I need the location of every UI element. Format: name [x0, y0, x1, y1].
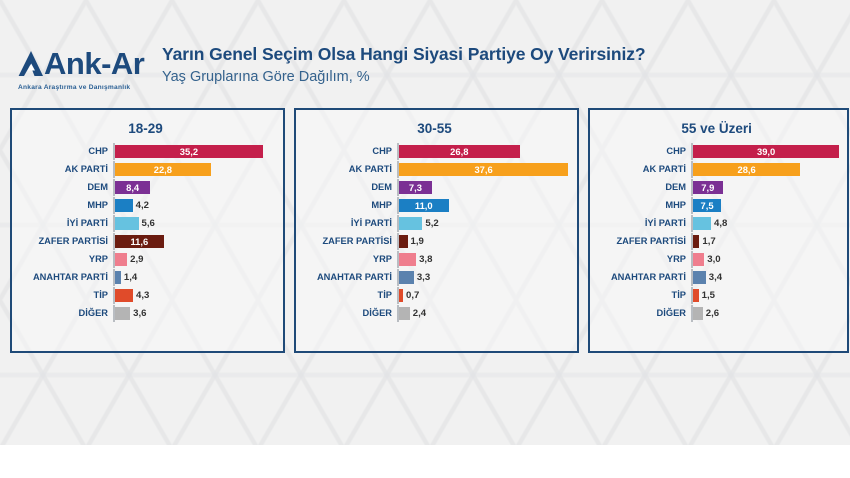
- bar-track: 4,2: [113, 197, 275, 214]
- bar-row: CHP39,0: [594, 143, 839, 160]
- logo-mark: Ank-Ar: [18, 48, 148, 79]
- bar-row-label: YRP: [594, 255, 691, 264]
- chart-panel-18-29: 18-29 CHP35,2AK PARTİ22,8DEM8,4MHP4,2İYİ…: [10, 108, 285, 353]
- title-block: Yarın Genel Seçim Olsa Hangi Siyasi Part…: [148, 30, 645, 85]
- bar-track: 37,6: [397, 161, 569, 178]
- chart-panels: 18-29 CHP35,2AK PARTİ22,8DEM8,4MHP4,2İYİ…: [0, 108, 850, 353]
- bar-row-label: İYİ PARTİ: [300, 219, 397, 228]
- bar-value-label: 37,6: [474, 165, 492, 174]
- bar: 7,9: [693, 181, 723, 194]
- bar-row: CHP35,2: [16, 143, 275, 160]
- bar-track: 26,8: [397, 143, 569, 160]
- bar-value-label: 35,2: [180, 147, 198, 156]
- bar: 37,6: [399, 163, 568, 176]
- chart-panel-30-55: 30-55 CHP26,8AK PARTİ37,6DEM7,3MHP11,0İY…: [294, 108, 579, 353]
- bar-track: 2,4: [397, 305, 569, 322]
- bar-row-label: MHP: [300, 201, 397, 210]
- bar: [693, 307, 703, 320]
- bar: 28,6: [693, 163, 800, 176]
- bar-row-label: AK PARTİ: [594, 165, 691, 174]
- bar-track: 2,9: [113, 251, 275, 268]
- bar: [115, 199, 133, 212]
- bar-track: 3,4: [691, 269, 839, 286]
- bar-row-label: TİP: [300, 291, 397, 300]
- bar-row: ZAFER PARTİSİ1,9: [300, 233, 569, 250]
- logo-wordmark: Ank-Ar: [44, 48, 144, 79]
- bar-track: 22,8: [113, 161, 275, 178]
- panel-title: 18-29: [16, 121, 275, 136]
- bar-track: 35,2: [113, 143, 275, 160]
- bar-track: 7,5: [691, 197, 839, 214]
- bar-value-label: 7,3: [409, 183, 422, 192]
- bar-value-label: 1,9: [411, 237, 424, 247]
- bar: [399, 253, 416, 266]
- bar: [399, 307, 410, 320]
- bar-value-label: 3,0: [707, 255, 720, 265]
- bar: [693, 217, 711, 230]
- bar-value-label: 5,2: [425, 219, 438, 229]
- bar-row-label: ZAFER PARTİSİ: [300, 237, 397, 246]
- bar-track: 8,4: [113, 179, 275, 196]
- bar-track: 1,9: [397, 233, 569, 250]
- bar-value-label: 2,4: [413, 309, 426, 319]
- bar-value-label: 0,7: [406, 291, 419, 301]
- bar-row: DİĞER2,6: [594, 305, 839, 322]
- bar-track: 28,6: [691, 161, 839, 178]
- bar-row-label: ANAHTAR PARTİ: [594, 273, 691, 282]
- bar-row: ANAHTAR PARTİ3,4: [594, 269, 839, 286]
- bar-row-label: DEM: [300, 183, 397, 192]
- bar-track: 3,3: [397, 269, 569, 286]
- logo-tagline: Ankara Araştırma ve Danışmanlık: [18, 84, 148, 91]
- bar-value-label: 22,8: [154, 165, 172, 174]
- bar-track: 11,6: [113, 233, 275, 250]
- bar-row-label: MHP: [594, 201, 691, 210]
- bar: [399, 235, 408, 248]
- bar-row: AK PARTİ22,8: [16, 161, 275, 178]
- bar-value-label: 3,3: [417, 273, 430, 283]
- bar-row: ZAFER PARTİSİ11,6: [16, 233, 275, 250]
- bar-row: TİP1,5: [594, 287, 839, 304]
- bar-row-label: DİĞER: [594, 309, 691, 318]
- bar-row: YRP2,9: [16, 251, 275, 268]
- bar: 11,6: [115, 235, 164, 248]
- bar: 11,0: [399, 199, 449, 212]
- bar-track: 4,8: [691, 215, 839, 232]
- bar-value-label: 4,8: [714, 219, 727, 229]
- bar-row-label: DEM: [594, 183, 691, 192]
- bar-row: TİP4,3: [16, 287, 275, 304]
- bar-row-label: YRP: [300, 255, 397, 264]
- bar: [399, 289, 403, 302]
- bar: [693, 271, 706, 284]
- bar-value-label: 8,4: [126, 183, 139, 192]
- ank-ar-triangle-icon: [18, 50, 44, 78]
- bar-row: ZAFER PARTİSİ1,7: [594, 233, 839, 250]
- bar-row-label: AK PARTİ: [300, 165, 397, 174]
- bar-row-label: ANAHTAR PARTİ: [300, 273, 397, 282]
- bar: [115, 289, 133, 302]
- bar-value-label: 26,8: [450, 147, 468, 156]
- bar-track: 1,5: [691, 287, 839, 304]
- bar: 7,3: [399, 181, 432, 194]
- bar-value-label: 2,6: [706, 309, 719, 319]
- bar-row: TİP0,7: [300, 287, 569, 304]
- bar: 26,8: [399, 145, 520, 158]
- bar-row-label: TİP: [594, 291, 691, 300]
- page-title: Yarın Genel Seçim Olsa Hangi Siyasi Part…: [162, 44, 645, 65]
- bar-row: DEM7,3: [300, 179, 569, 196]
- bar-value-label: 4,2: [136, 201, 149, 211]
- bar-track: 39,0: [691, 143, 839, 160]
- bar-row: DİĞER2,4: [300, 305, 569, 322]
- bar-row-label: ANAHTAR PARTİ: [16, 273, 113, 282]
- bar-row: DEM8,4: [16, 179, 275, 196]
- bar-value-label: 11,6: [130, 237, 148, 246]
- bar-row: YRP3,8: [300, 251, 569, 268]
- bar-row: İYİ PARTİ4,8: [594, 215, 839, 232]
- bar-row-label: ZAFER PARTİSİ: [16, 237, 113, 246]
- bar-row-label: CHP: [16, 147, 113, 156]
- bar-value-label: 28,6: [738, 165, 756, 174]
- bar-value-label: 2,9: [130, 255, 143, 265]
- bar: 22,8: [115, 163, 211, 176]
- poster-canvas: Ank-Ar Ankara Araştırma ve Danışmanlık Y…: [0, 0, 850, 445]
- bar-rows: CHP39,0AK PARTİ28,6DEM7,9MHP7,5İYİ PARTİ…: [594, 143, 839, 322]
- bar-track: 5,6: [113, 215, 275, 232]
- bar-row: DİĞER3,6: [16, 305, 275, 322]
- bar-value-label: 1,5: [702, 291, 715, 301]
- bar: [115, 253, 127, 266]
- bar: [115, 271, 121, 284]
- bar-track: 1,4: [113, 269, 275, 286]
- bar-value-label: 3,6: [133, 309, 146, 319]
- bar-track: 0,7: [397, 287, 569, 304]
- bar-row-label: İYİ PARTİ: [16, 219, 113, 228]
- bar-rows: CHP35,2AK PARTİ22,8DEM8,4MHP4,2İYİ PARTİ…: [16, 143, 275, 322]
- bar-row: ANAHTAR PARTİ3,3: [300, 269, 569, 286]
- bar-value-label: 3,8: [419, 255, 432, 265]
- bar-value-label: 1,7: [702, 237, 715, 247]
- brand-logo: Ank-Ar Ankara Araştırma ve Danışmanlık: [18, 30, 148, 91]
- bar-track: 7,3: [397, 179, 569, 196]
- bar-row-label: AK PARTİ: [16, 165, 113, 174]
- bar-row-label: MHP: [16, 201, 113, 210]
- bar-track: 3,0: [691, 251, 839, 268]
- bar-row: İYİ PARTİ5,6: [16, 215, 275, 232]
- bar-row-label: TİP: [16, 291, 113, 300]
- bar-row: İYİ PARTİ5,2: [300, 215, 569, 232]
- bar-track: 7,9: [691, 179, 839, 196]
- bar-row: YRP3,0: [594, 251, 839, 268]
- bar: [115, 217, 139, 230]
- bar: [399, 217, 422, 230]
- bar-value-label: 39,0: [757, 147, 775, 156]
- bar: 35,2: [115, 145, 263, 158]
- bar-row: MHP7,5: [594, 197, 839, 214]
- bar-value-label: 1,4: [124, 273, 137, 283]
- bar-track: 11,0: [397, 197, 569, 214]
- bar-value-label: 3,4: [709, 273, 722, 283]
- bar-row: MHP11,0: [300, 197, 569, 214]
- bar: [693, 289, 699, 302]
- bar-value-label: 5,6: [142, 219, 155, 229]
- bar-track: 1,7: [691, 233, 839, 250]
- panel-title: 30-55: [300, 121, 569, 136]
- bar-row-label: DİĞER: [16, 309, 113, 318]
- bar-track: 5,2: [397, 215, 569, 232]
- bar-value-label: 7,5: [701, 201, 714, 210]
- bar-row: AK PARTİ28,6: [594, 161, 839, 178]
- bar: 39,0: [693, 145, 839, 158]
- page-subtitle: Yaş Gruplarına Göre Dağılım, %: [162, 69, 645, 85]
- bar-row-label: İYİ PARTİ: [594, 219, 691, 228]
- bar-rows: CHP26,8AK PARTİ37,6DEM7,3MHP11,0İYİ PART…: [300, 143, 569, 322]
- panel-title: 55 ve Üzeri: [594, 121, 839, 136]
- bar: [399, 271, 414, 284]
- bar-row-label: DEM: [16, 183, 113, 192]
- bar-value-label: 7,9: [701, 183, 714, 192]
- bar: [693, 253, 704, 266]
- bar-row-label: DİĞER: [300, 309, 397, 318]
- bar-track: 4,3: [113, 287, 275, 304]
- bar-row-label: ZAFER PARTİSİ: [594, 237, 691, 246]
- bar: [693, 235, 699, 248]
- bar: 8,4: [115, 181, 150, 194]
- bar-row-label: CHP: [300, 147, 397, 156]
- bar-row: AK PARTİ37,6: [300, 161, 569, 178]
- bar-row: CHP26,8: [300, 143, 569, 160]
- bar-value-label: 4,3: [136, 291, 149, 301]
- bar-row: ANAHTAR PARTİ1,4: [16, 269, 275, 286]
- poster-header: Ank-Ar Ankara Araştırma ve Danışmanlık Y…: [0, 0, 850, 108]
- bar-track: 2,6: [691, 305, 839, 322]
- bar-row: MHP4,2: [16, 197, 275, 214]
- bar-track: 3,6: [113, 305, 275, 322]
- bar: [115, 307, 130, 320]
- bar-value-label: 11,0: [415, 201, 433, 210]
- bar: 7,5: [693, 199, 721, 212]
- bar-row: DEM7,9: [594, 179, 839, 196]
- bar-row-label: YRP: [16, 255, 113, 264]
- chart-panel-55-ve-uzeri: 55 ve Üzeri CHP39,0AK PARTİ28,6DEM7,9MHP…: [588, 108, 849, 353]
- bar-row-label: CHP: [594, 147, 691, 156]
- bar-track: 3,8: [397, 251, 569, 268]
